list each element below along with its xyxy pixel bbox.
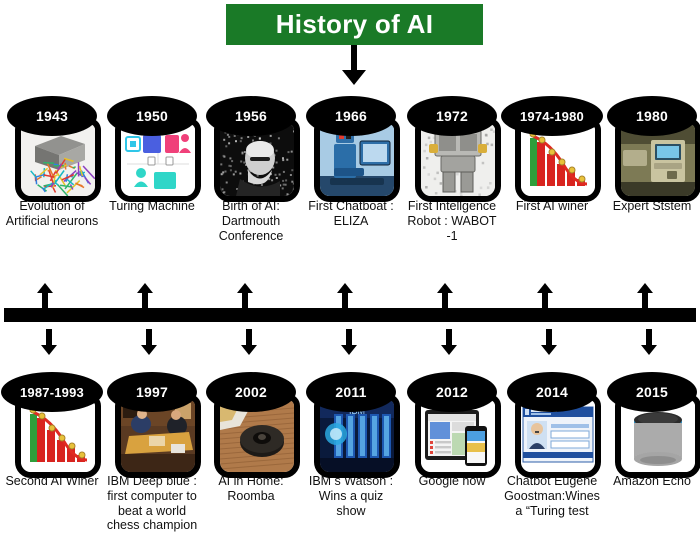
jar-graphic: 2015 — [611, 372, 693, 468]
page-title-banner: History of AI — [226, 4, 483, 45]
timeline-tick-6 — [533, 283, 567, 355]
timeline-item-1974-1980[interactable]: 1974-1980 First AI winer — [504, 96, 600, 214]
jar-lid-year: 2015 — [607, 372, 697, 412]
timeline-tick-2 — [133, 283, 167, 355]
timeline-tick-4 — [333, 283, 367, 355]
timeline-tick-1 — [33, 283, 67, 355]
item-caption: IBM s Watson : Wins a quiz show — [303, 474, 399, 518]
year-label: 2015 — [636, 384, 668, 400]
jar-graphic: 1974-1980 — [511, 96, 593, 192]
jar-graphic: 2002 — [210, 372, 292, 468]
double-arrow-up-down-icon — [233, 283, 267, 355]
item-caption: IBM Deep blue : first computer to beat a… — [104, 474, 200, 533]
jar-graphic: 1943 — [11, 96, 93, 192]
jar-graphic: 1956 — [210, 96, 292, 192]
timeline-item-1972[interactable]: 1972 First Intellgence Robot : WABOT -1 — [404, 96, 500, 243]
double-arrow-up-down-icon — [633, 283, 667, 355]
timeline-item-1997[interactable]: 1997 IBM Deep blue : first computer to b… — [104, 372, 200, 533]
jar-graphic: 2011 IBM — [310, 372, 392, 468]
year-label: 1987-1993 — [20, 385, 84, 400]
timeline-item-2002[interactable]: 2002 AI in Home: Roomba — [203, 372, 299, 504]
double-arrow-up-down-icon — [333, 283, 367, 355]
jar-graphic: 1980 — [611, 96, 693, 192]
jar-lid-year: 1980 — [607, 96, 697, 136]
down-arrow-icon — [330, 45, 378, 85]
jar-lid-year: 1997 — [107, 372, 197, 412]
jar-lid-year: 2014 — [507, 372, 597, 412]
year-label: 1943 — [36, 108, 68, 124]
infographic-canvas: History of AI 1943 Evolution of Artifici… — [0, 0, 700, 557]
year-label: 1966 — [335, 108, 367, 124]
year-label: 1980 — [636, 108, 668, 124]
jar-lid-year: 1966 — [306, 96, 396, 136]
jar-lid-year: 1943 — [7, 96, 97, 136]
year-label: 1997 — [136, 384, 168, 400]
timeline-item-1980[interactable]: 1980 Expert Ststem — [604, 96, 700, 214]
jar-graphic: 1997 — [111, 372, 193, 468]
year-label: 1950 — [136, 108, 168, 124]
jar-graphic: 1950 — [111, 96, 193, 192]
year-label: 1956 — [235, 108, 267, 124]
timeline-item-1987-1993[interactable]: 1987-1993 Second AI Winer — [4, 372, 100, 489]
jar-lid-year: 1974-1980 — [501, 96, 603, 136]
jar-lid-year: 2012 — [407, 372, 497, 412]
double-arrow-up-down-icon — [533, 283, 567, 355]
timeline-item-1950[interactable]: 1950 Turing Machine — [104, 96, 200, 214]
jar-graphic: 1972 — [411, 96, 493, 192]
jar-lid-year: 1987-1993 — [1, 372, 103, 412]
timeline-item-2012[interactable]: 2012 Google now — [404, 372, 500, 489]
jar-graphic: 2014 — [511, 372, 593, 468]
jar-graphic: 2012 — [411, 372, 493, 468]
double-arrow-up-down-icon — [133, 283, 167, 355]
timeline-item-2011[interactable]: 2011 IBM IBM s Watson : Wins a quiz show — [303, 372, 399, 518]
item-caption: Birth of AI: Dartmouth Conference — [203, 199, 299, 243]
jar-lid-year: 2002 — [206, 372, 296, 412]
timeline-tick-5 — [433, 283, 467, 355]
item-caption: Chatbot Eugene Goostman:Wines a “Turing … — [504, 474, 600, 518]
year-label: 2012 — [436, 384, 468, 400]
jar-graphic: 1987-1993 — [11, 372, 93, 468]
jar-lid-year: 1956 — [206, 96, 296, 136]
year-label: 2011 — [335, 384, 366, 400]
year-label: 2014 — [536, 384, 568, 400]
timeline-tick-7 — [633, 283, 667, 355]
year-label: 1974-1980 — [520, 109, 584, 124]
item-caption: First Chatboat : ELIZA — [303, 199, 399, 229]
jar-graphic: 1966 — [310, 96, 392, 192]
timeline-tick-3 — [233, 283, 267, 355]
item-caption: Evolution of Artificial neurons — [4, 199, 100, 229]
double-arrow-up-down-icon — [33, 283, 67, 355]
year-label: 1972 — [436, 108, 468, 124]
jar-lid-year: 2011 — [306, 372, 396, 412]
page-title: History of AI — [276, 9, 434, 40]
jar-lid-year: 1950 — [107, 96, 197, 136]
timeline-item-2015[interactable]: 2015 Amazon Echo — [604, 372, 700, 489]
item-caption: First Intellgence Robot : WABOT -1 — [404, 199, 500, 243]
double-arrow-up-down-icon — [433, 283, 467, 355]
timeline-item-1943[interactable]: 1943 Evolution of Artificial neurons — [4, 96, 100, 229]
jar-lid-year: 1972 — [407, 96, 497, 136]
timeline-item-2014[interactable]: 2014 Chatbot Eugene Goostman:Wines a “Tu… — [504, 372, 600, 518]
timeline-item-1956[interactable]: 1956 Birth of AI: Dartmouth Conference — [203, 96, 299, 243]
item-caption: AI in Home: Roomba — [203, 474, 299, 504]
timeline-item-1966[interactable]: 1966 First Chatboat : ELIZA — [303, 96, 399, 229]
year-label: 2002 — [235, 384, 267, 400]
